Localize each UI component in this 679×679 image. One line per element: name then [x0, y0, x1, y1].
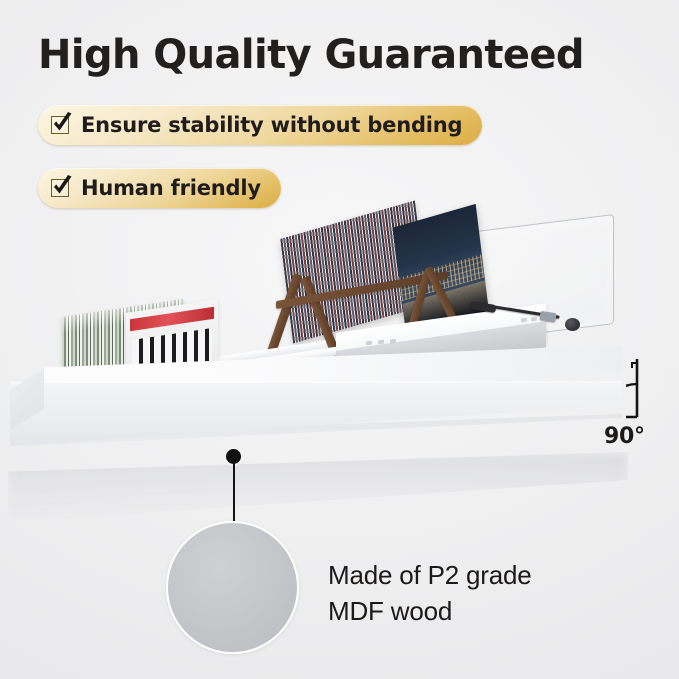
turntable-button: [521, 318, 527, 323]
turntable-button: [390, 339, 396, 344]
feature-badge-label: Ensure stability without bending: [81, 113, 462, 137]
mdf-material-swatch: [166, 521, 299, 654]
right-angle-icon: [626, 355, 672, 431]
feature-badge-label: Human friendly: [81, 176, 261, 200]
checkbox-checked-icon: [51, 115, 72, 136]
turntable-button: [366, 341, 372, 346]
shelf-wall-shadow: [8, 452, 628, 522]
callout-leader-line: [233, 461, 235, 530]
turntable-button: [378, 340, 384, 345]
material-callout-text: Made of P2 grade MDF wood: [328, 557, 532, 629]
feature-badge-stability: Ensure stability without bending: [38, 105, 482, 145]
turntable-counterweight: [565, 318, 580, 331]
turntable-button: [531, 317, 537, 322]
angle-value-label: 90°: [604, 424, 645, 449]
product-scene: [0, 200, 679, 500]
page-title: High Quality Guaranteed: [38, 31, 584, 79]
product-feature-image: High Quality Guaranteed Ensure stability…: [0, 0, 679, 679]
shelf-front-edge: [10, 383, 622, 467]
checkbox-checked-icon: [51, 178, 72, 199]
